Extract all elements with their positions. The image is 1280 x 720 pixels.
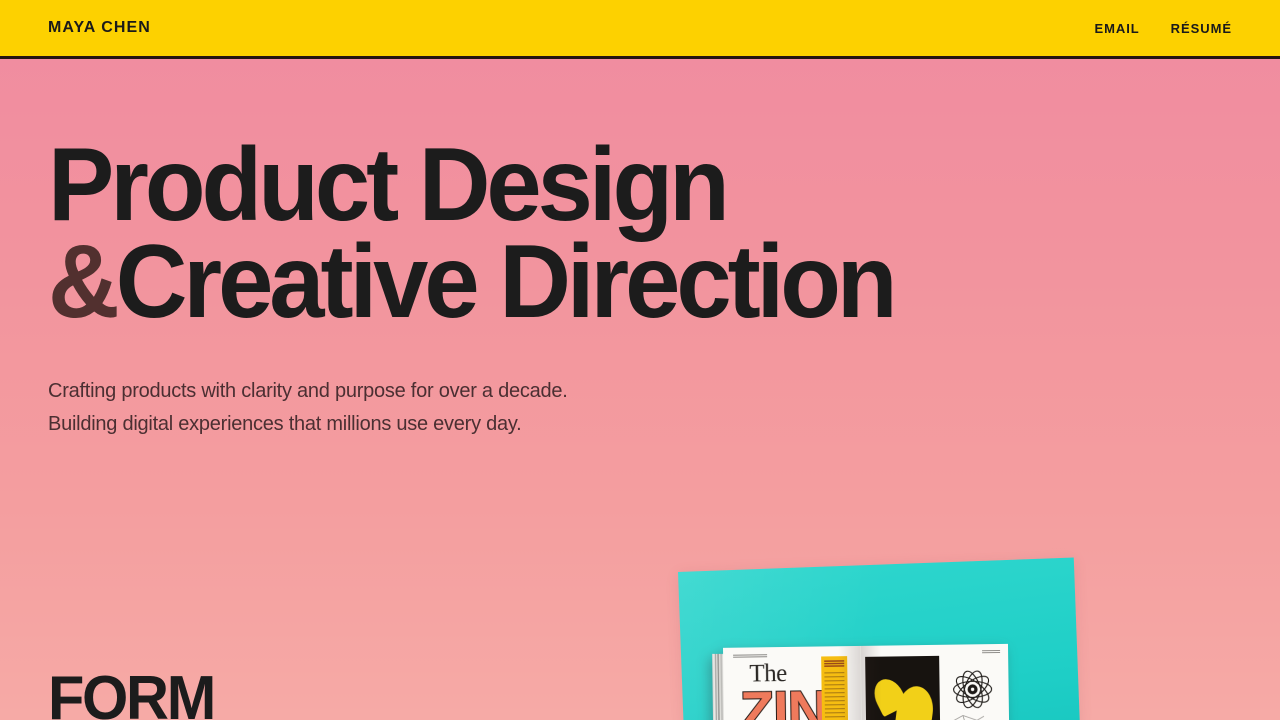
pencil-sketch-icon (946, 712, 986, 720)
yellow-column-headline (824, 660, 844, 667)
right-page-dark-panel (865, 656, 941, 720)
hero-section: Product Design &Creative Direction Craft… (0, 59, 1280, 440)
hero-subtitle: Crafting products with clarity and purpo… (48, 375, 1249, 439)
left-page-kicker-text (733, 654, 767, 658)
headline-ampersand: & (48, 224, 116, 340)
hero-photo: The ZIN (660, 548, 1100, 720)
headline-line-2: &Creative Direction (48, 234, 1225, 331)
wordmark[interactable]: MAYA CHEN (48, 19, 151, 37)
magazine-title-zin: ZIN (740, 682, 828, 720)
yellow-column-body-text (824, 672, 845, 720)
left-page-yellow-column (821, 656, 849, 720)
nav-link-resume[interactable]: RÉSUMÉ (1171, 21, 1232, 36)
hero-subtitle-line-2: Building digital experiences that millio… (48, 408, 1249, 440)
atom-spirograph-icon (947, 664, 998, 715)
section-heading-form: FORM (48, 668, 214, 720)
nav-link-email[interactable]: EMAIL (1094, 21, 1139, 36)
headline-line-2-text: Creative Direction (116, 224, 894, 340)
magazine-left-page: The ZIN (723, 646, 863, 720)
headline-line-1: Product Design (48, 137, 1225, 234)
site-header: MAYA CHEN EMAIL RÉSUMÉ (0, 0, 1280, 59)
hero-subtitle-line-1: Crafting products with clarity and purpo… (48, 375, 1249, 407)
magazine-right-page (861, 644, 1010, 720)
primary-nav: EMAIL RÉSUMÉ (1094, 21, 1232, 36)
page-title: Product Design &Creative Direction (48, 137, 1225, 331)
right-page-folio (982, 650, 1000, 654)
open-magazine: The ZIN (712, 644, 1010, 720)
